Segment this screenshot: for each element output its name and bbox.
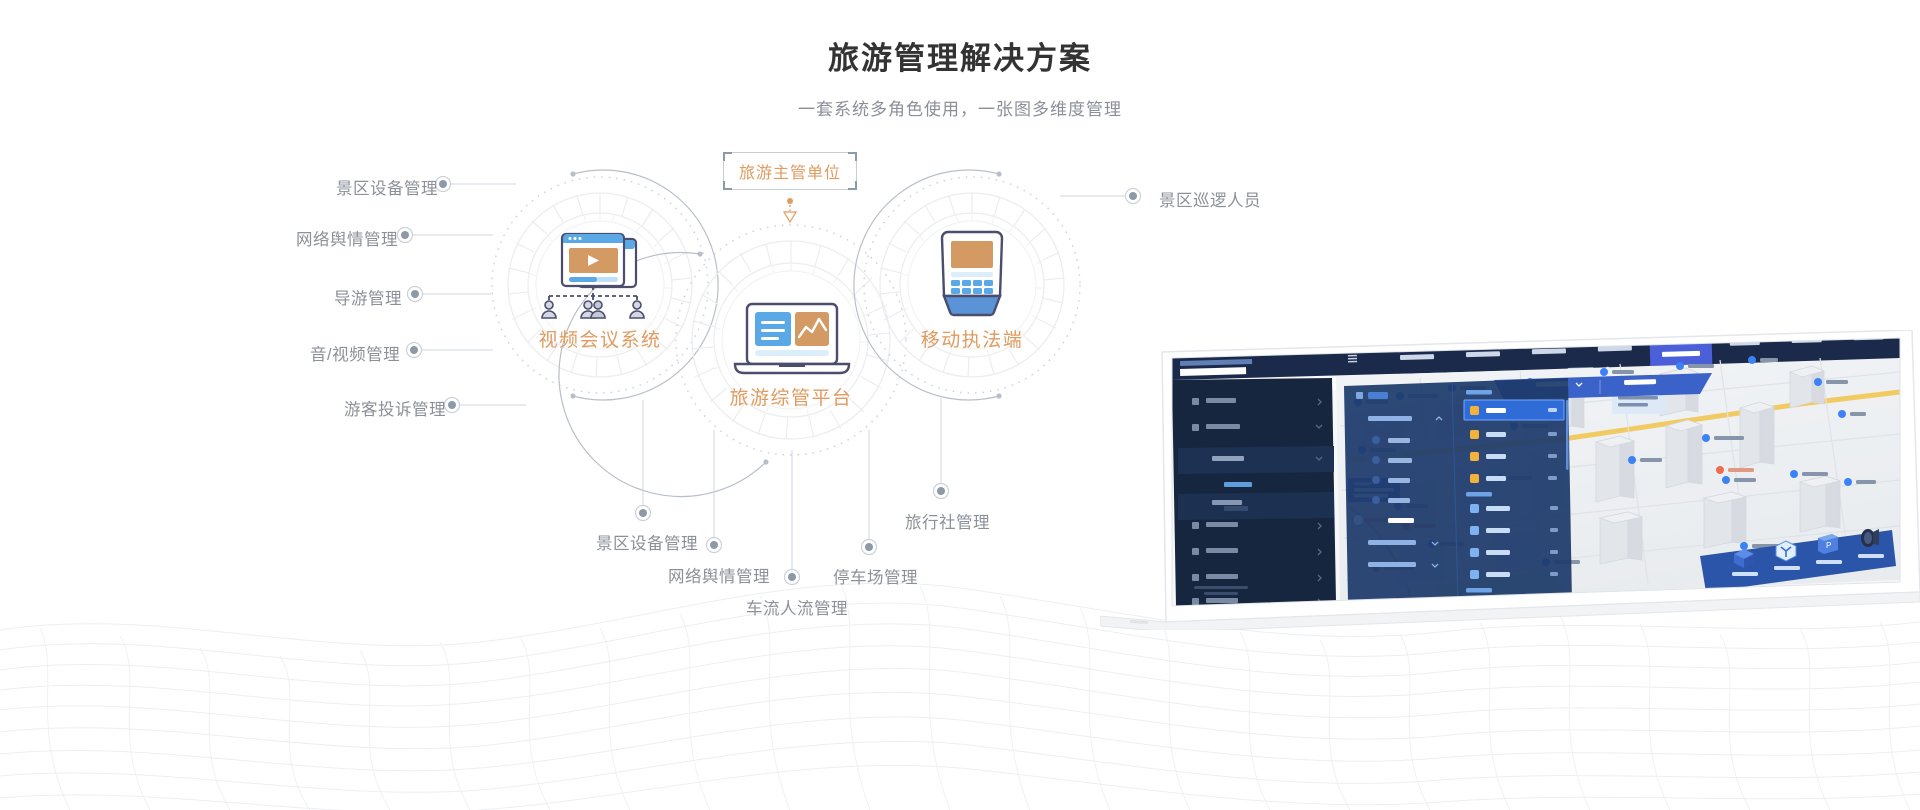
label-bottom-traffic-flow-mgmt[interactable]: 车流人流管理 <box>746 595 848 619</box>
svg-text:P: P <box>1826 541 1831 550</box>
corner-bracket-top-right <box>848 152 857 161</box>
label-bottom-network-sentiment-mgmt[interactable]: 网络舆情管理 <box>668 563 770 587</box>
admin-to-platform-arrow <box>784 198 796 222</box>
admin-unit-box[interactable]: 旅游主管单位 <box>723 152 857 190</box>
label-left-scenic-device-mgmt[interactable]: 景区设备管理 <box>336 175 438 199</box>
laptop-mockup: P <box>1100 330 1920 630</box>
label-bottom-travel-agency-mgmt[interactable]: 旅行社管理 <box>905 509 990 533</box>
corner-bracket-top-left <box>723 152 732 161</box>
label-bottom-parking-mgmt[interactable]: 停车场管理 <box>833 564 918 588</box>
corner-bracket-bottom-right <box>848 181 857 190</box>
hub-tourism-platform[interactable]: 旅游综管平台 <box>691 300 891 410</box>
label-left-visitor-complaint-mgmt[interactable]: 游客投诉管理 <box>344 396 446 420</box>
hub-caption-video-conference: 视频会议系统 <box>500 325 700 352</box>
mobile-device-icon <box>872 228 1072 320</box>
right-connector-dots <box>1126 189 1141 204</box>
page-header: 旅游管理解决方案 一套系统多角色使用，一张图多维度管理 <box>0 0 1920 120</box>
label-left-audio-video-mgmt[interactable]: 音/视频管理 <box>310 341 400 365</box>
video-conference-icon <box>500 230 700 320</box>
hub-caption-tourism-platform: 旅游综管平台 <box>691 383 891 410</box>
page-title: 旅游管理解决方案 <box>0 0 1920 77</box>
admin-unit-label: 旅游主管单位 <box>739 159 841 183</box>
hub-video-conference[interactable]: 视频会议系统 <box>500 230 700 352</box>
laptop-dashboard-icon <box>691 300 891 378</box>
label-left-tour-guide-mgmt[interactable]: 导游管理 <box>334 285 402 309</box>
page-subtitle: 一套系统多角色使用，一张图多维度管理 <box>0 77 1920 120</box>
label-right-scenic-patrol-staff[interactable]: 景区巡逻人员 <box>1159 187 1261 211</box>
label-bottom-scenic-device-mgmt[interactable]: 景区设备管理 <box>596 530 698 554</box>
label-left-network-sentiment-mgmt[interactable]: 网络舆情管理 <box>296 226 398 250</box>
hub-mobile-enforcement[interactable]: 移动执法端 <box>872 228 1072 352</box>
corner-bracket-bottom-left <box>723 181 732 190</box>
hub-caption-mobile-enforcement: 移动执法端 <box>872 325 1072 352</box>
